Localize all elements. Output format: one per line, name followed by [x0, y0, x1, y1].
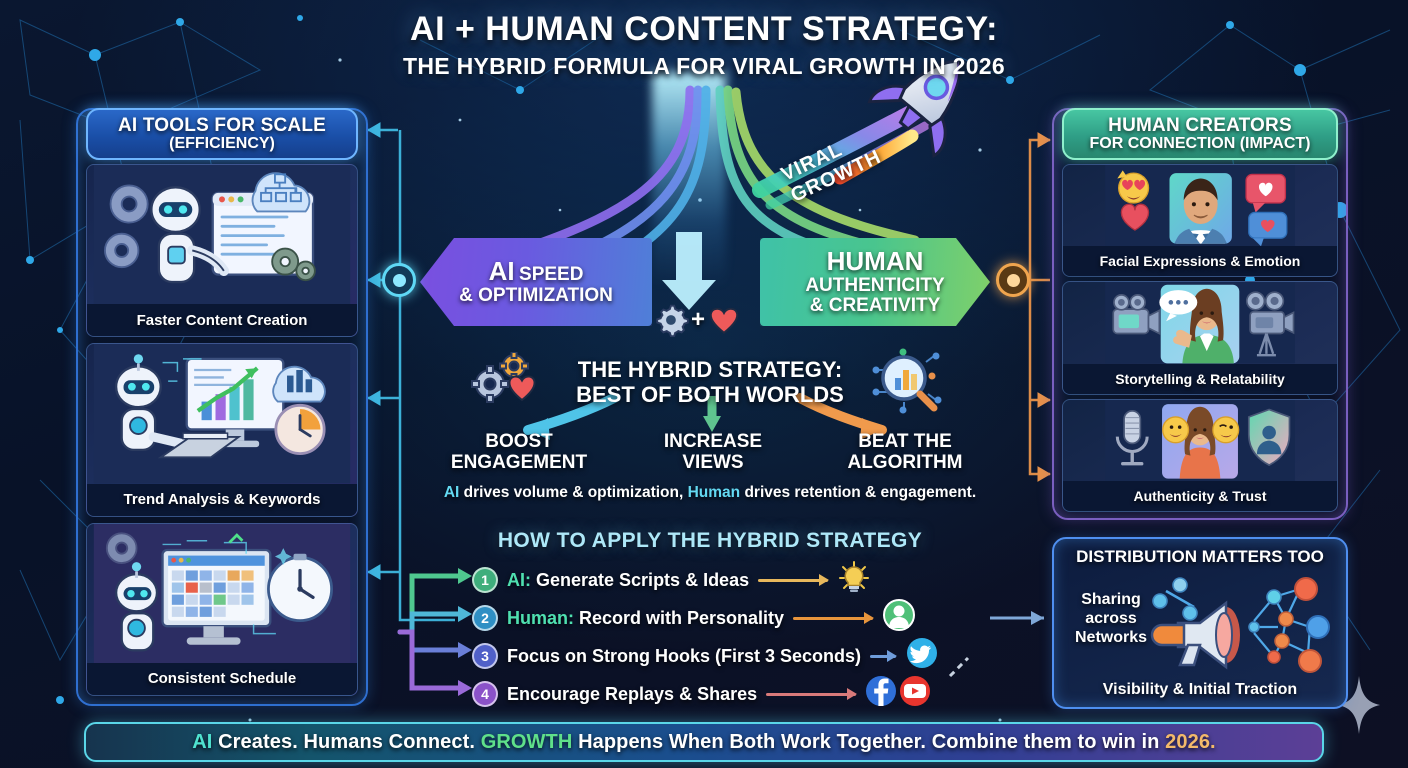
footer-p4: Happens When Both Work Together. Combine… [572, 731, 1165, 753]
left-panel-cards: Faster Content Creation [86, 164, 358, 696]
distribution-caption: Visibility & Initial Traction [1054, 681, 1346, 699]
kpi-beat-algorithm: BEAT THE ALGORITHM [820, 432, 990, 474]
list-item[interactable]: 1 AI: Generate Scripts & Ideas [472, 561, 1032, 599]
step-arrow [766, 693, 856, 696]
lightbulb-icon [837, 561, 871, 599]
step-arrow [870, 655, 896, 658]
step-label: Human: Record with Personality [507, 608, 784, 629]
step-body: Generate Scripts & Ideas [531, 570, 749, 590]
analytics-magnifier-icon [870, 348, 942, 423]
robot-calendar-clock-illustration [87, 524, 357, 663]
list-item[interactable]: Storytelling & Relatability [1062, 281, 1338, 394]
left-panel-header-line1: AI TOOLS FOR SCALE [118, 116, 326, 136]
person-avatar-icon [882, 599, 916, 637]
right-panel-header-line1: HUMAN CREATORS [1108, 116, 1292, 136]
step-label: Encourage Replays & Shares [507, 684, 757, 705]
title-main: AI + HUMAN CONTENT STRATEGY: [0, 10, 1408, 49]
kpi-boost-engagement: BOOST ENGAGEMENT [434, 432, 604, 474]
footer-text: AI Creates. Humans Connect. GROWTH Happe… [192, 731, 1215, 754]
hybrid-strategy-title: THE HYBRID STRATEGY: BEST OF BOTH WORLDS [560, 358, 860, 407]
step-arrow [793, 617, 873, 620]
chevron-human-line3: & CREATIVITY [805, 296, 944, 317]
right-panel-header: HUMAN CREATORS FOR CONNECTION (IMPACT) [1062, 108, 1338, 160]
footer-p2: Creates. Humans Connect. [212, 731, 480, 753]
hybrid-note: AI drives volume & optimization, Human d… [400, 484, 1020, 502]
step-number: 3 [472, 643, 498, 669]
hybrid-title-line2: BEST OF BOTH WORLDS [560, 383, 860, 408]
list-item-caption: Authenticity & Trust [1063, 481, 1337, 511]
note-ai-word: AI [444, 484, 460, 501]
distribution-box[interactable]: DISTRIBUTION MATTERS TOO Sharing across … [1052, 537, 1348, 709]
footer-ai: AI [192, 731, 212, 753]
step-number: 4 [472, 681, 498, 707]
step-label: Focus on Strong Hooks (First 3 Seconds) [507, 646, 861, 667]
step-lead: AI: [507, 570, 531, 590]
kpi1-line1: BOOST [434, 432, 604, 453]
list-item-caption: Faster Content Creation [87, 304, 357, 336]
kpi-increase-views: INCREASE VIEWS [638, 432, 788, 474]
left-panel-header: AI TOOLS FOR SCALE (EFFICIENCY) [86, 108, 358, 160]
twitter-icon [905, 637, 939, 675]
footer-banner: AI Creates. Humans Connect. GROWTH Happe… [84, 722, 1324, 762]
heart-icon [707, 303, 741, 337]
title-subtitle: THE HYBRID FORMULA FOR VIRAL GROWTH IN 2… [0, 53, 1408, 80]
list-item[interactable]: Facial Expressions & Emotion [1062, 164, 1338, 277]
chevron-ai-strong: AI [489, 256, 515, 286]
list-item-caption: Consistent Schedule [87, 663, 357, 695]
list-item-caption: Facial Expressions & Emotion [1063, 246, 1337, 276]
list-item-caption: Storytelling & Relatability [1063, 364, 1337, 394]
hybrid-title-line1: THE HYBRID STRATEGY: [560, 358, 860, 383]
right-panel-header-line2: FOR CONNECTION (IMPACT) [1089, 136, 1310, 152]
apply-steps-list: 1 AI: Generate Scripts & Ideas 2 Human: … [472, 561, 1032, 713]
list-item[interactable]: Authenticity & Trust [1062, 399, 1338, 512]
chevron-ai-line2: & OPTIMIZATION [459, 286, 613, 307]
human-authenticity-chevron[interactable]: HUMAN AUTHENTICITY & CREATIVITY [760, 238, 990, 326]
kpi3-line2: ALGORITHM [820, 453, 990, 474]
footer-year: 2026. [1165, 731, 1216, 753]
robot-browser-cloud-illustration [87, 165, 357, 304]
kpi3-line1: BEAT THE [820, 432, 990, 453]
steps-bracket-tree [396, 558, 476, 706]
kpi2-line2: VIEWS [638, 453, 788, 474]
page-title: AI + HUMAN CONTENT STRATEGY: THE HYBRID … [0, 10, 1408, 80]
robot-analytics-illustration [87, 344, 357, 483]
step-body: Focus on Strong Hooks (First 3 Seconds) [507, 646, 861, 666]
ai-speed-chevron[interactable]: AI SPEED & OPTIMIZATION [420, 238, 652, 326]
list-item[interactable]: Consistent Schedule [86, 523, 358, 696]
step-body: Encourage Replays & Shares [507, 684, 757, 704]
footer-growth: GROWTH [481, 731, 573, 753]
microphone-emoji-shield-illustration [1063, 400, 1337, 481]
kpi1-line2: ENGAGEMENT [434, 453, 604, 474]
kpi2-line1: INCREASE [638, 432, 788, 453]
list-item[interactable]: 4 Encourage Replays & Shares [472, 675, 1032, 713]
gear-icon [655, 303, 689, 337]
chevron-human-line1: HUMAN [805, 247, 944, 275]
left-panel-ai-tools: AI TOOLS FOR SCALE (EFFICIENCY) [76, 108, 368, 706]
step-number: 1 [472, 567, 498, 593]
list-item[interactable]: 3 Focus on Strong Hooks (First 3 Seconds… [472, 637, 1032, 675]
right-panel-cards: Facial Expressions & Emotion [1062, 164, 1338, 512]
right-panel-human-creators: HUMAN CREATORS FOR CONNECTION (IMPACT) [1052, 108, 1348, 520]
distribution-left-text: Sharing across Networks [1068, 591, 1154, 648]
facebook-youtube-icon [865, 675, 931, 713]
man-portrait-emoji-illustration [1063, 165, 1337, 246]
left-panel-header-line2: (EFFICIENCY) [169, 136, 275, 152]
list-item[interactable]: 2 Human: Record with Personality [472, 599, 1032, 637]
note-mid: drives volume & optimization, [459, 484, 687, 501]
list-item[interactable]: Trend Analysis & Keywords [86, 343, 358, 516]
step-label: AI: Generate Scripts & Ideas [507, 570, 749, 591]
step-lead: Human: [507, 608, 574, 628]
chevron-human-line2: AUTHENTICITY [805, 276, 944, 297]
list-item-caption: Trend Analysis & Keywords [87, 484, 357, 516]
woman-speaking-camera-illustration [1063, 282, 1337, 363]
ai-connector-node [382, 263, 416, 297]
list-item[interactable]: Faster Content Creation [86, 164, 358, 337]
step-arrow [758, 579, 828, 582]
hybrid-gear-heart-icon [470, 352, 542, 404]
note-human-word: Human [688, 484, 741, 501]
infographic-canvas: AI + HUMAN CONTENT STRATEGY: THE HYBRID … [0, 0, 1408, 768]
apply-section-title: HOW TO APPLY THE HYBRID STRATEGY [400, 529, 1020, 553]
human-connector-node [996, 263, 1030, 297]
chevron-ai-word: SPEED [519, 264, 583, 285]
note-end: drives retention & engagement. [740, 484, 976, 501]
megaphone-network-illustration [1150, 575, 1340, 679]
step-body: Record with Personality [574, 608, 784, 628]
distribution-title: DISTRIBUTION MATTERS TOO [1054, 547, 1346, 567]
gear-plus-heart-icon: + [655, 303, 741, 337]
step-number: 2 [472, 605, 498, 631]
